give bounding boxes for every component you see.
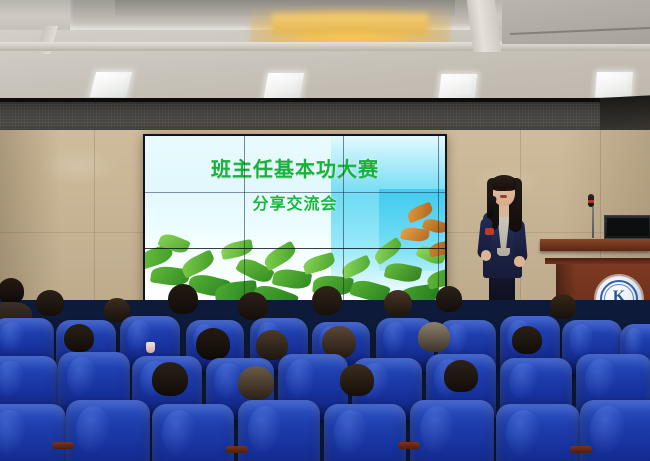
seat[interactable] (324, 404, 406, 461)
screen-title: 班主任基本功大赛 (145, 153, 445, 182)
downlight-icon (90, 72, 132, 97)
leaf-graphic (220, 239, 254, 260)
seat[interactable] (152, 404, 234, 461)
screen-grid-divider (343, 136, 344, 313)
speaker-neck (498, 205, 509, 217)
microphone-accent (485, 228, 494, 235)
audience-head (168, 284, 198, 314)
cove-light (272, 14, 428, 34)
cup-item (146, 342, 155, 353)
seat[interactable] (66, 400, 150, 461)
audience-head (0, 278, 24, 304)
audience-area (0, 300, 650, 461)
seat[interactable] (238, 400, 320, 461)
audience-head (152, 362, 188, 396)
seat[interactable] (0, 404, 66, 461)
audience-head (64, 324, 94, 352)
audience-head (512, 326, 542, 354)
podium-top-surface (540, 239, 650, 251)
leaf-graphic (261, 241, 298, 272)
seat[interactable] (496, 404, 580, 461)
audience-head (312, 286, 342, 315)
audience-head (340, 364, 374, 396)
microphone-indicator (588, 200, 594, 203)
audience-head (196, 328, 230, 360)
speaker-hand-right (514, 256, 525, 267)
screen-grid-divider (244, 136, 245, 313)
audience-head (238, 292, 268, 320)
ceiling (0, 0, 650, 112)
speaker-eye-right (506, 189, 510, 191)
audience-head (238, 366, 274, 400)
laptop-icon (604, 215, 650, 239)
acoustic-band-right (600, 95, 650, 132)
screen-grid-divider (145, 192, 445, 193)
ceiling-vent-panel (502, 0, 650, 44)
speaker-hand-left (481, 250, 491, 261)
acoustic-mesh-texture (0, 102, 650, 132)
armrest (52, 442, 74, 449)
speaker-hair-top (491, 175, 517, 191)
speaker-eye-left (496, 189, 500, 191)
armrest (226, 446, 248, 453)
speaker-mouth (500, 195, 507, 198)
downlight-icon (595, 72, 633, 97)
audience-head (36, 290, 64, 316)
auditorium-photo: 班主任基本功大赛 分享交流会 (0, 0, 650, 461)
audience-head (384, 290, 412, 316)
audience-head (550, 294, 576, 319)
audience-head (444, 360, 478, 392)
acoustic-panel-band (0, 98, 650, 132)
acoustic-band-top-edge (0, 98, 650, 102)
armrest (398, 442, 420, 449)
screen-grid-divider (438, 136, 439, 313)
armrest (570, 446, 592, 453)
audience-head (436, 286, 462, 312)
downlight-icon (264, 73, 304, 98)
screen-subtitle: 分享交流会 (145, 190, 445, 214)
downlight-icon (439, 74, 478, 99)
audience-head (418, 322, 450, 352)
screen-grid-divider (145, 248, 445, 249)
seat[interactable] (410, 400, 494, 461)
